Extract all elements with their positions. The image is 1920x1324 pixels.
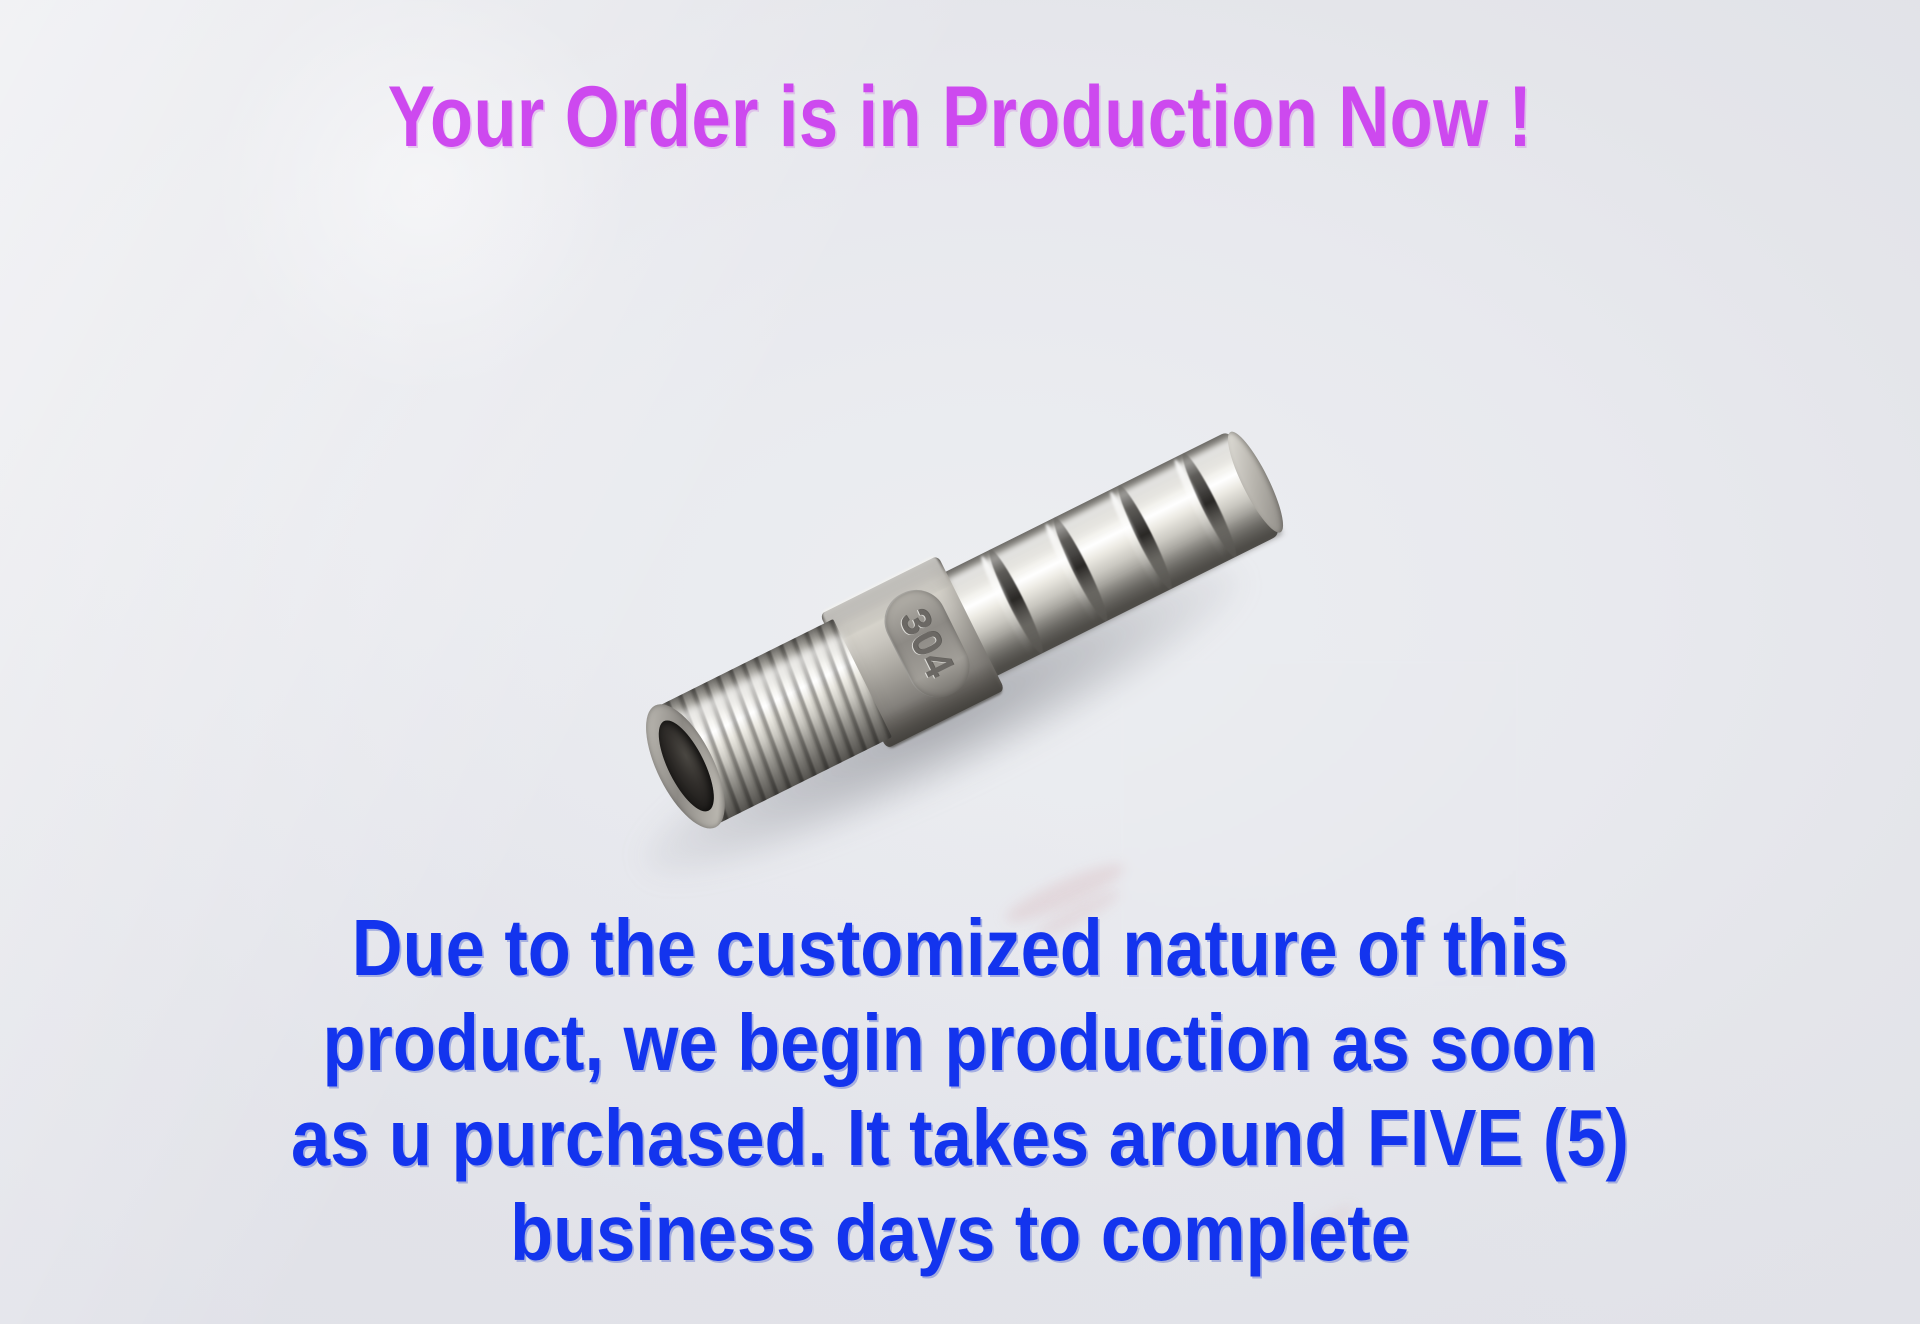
production-notice-text: Due to the customized nature of this pro… <box>115 900 1805 1280</box>
notice-line: business days to complete <box>115 1185 1805 1280</box>
notice-line: as u purchased. It takes around FIVE (5) <box>115 1090 1805 1185</box>
promo-banner: Your Order is in Production Now ! 304 <box>0 0 1920 1324</box>
notice-line: Due to the customized nature of this <box>115 900 1805 995</box>
notice-line: product, we begin production as soon <box>115 995 1805 1090</box>
product-image: 304 <box>560 360 1380 880</box>
page-title: Your Order is in Production Now ! <box>173 74 1747 160</box>
